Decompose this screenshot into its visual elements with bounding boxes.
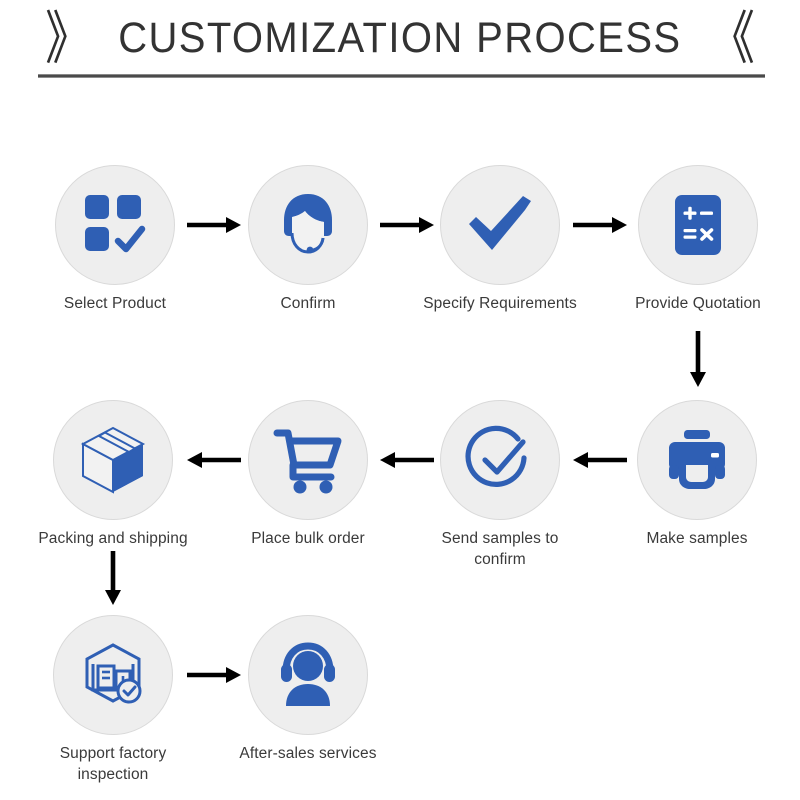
flow-step-icon-circle: [638, 165, 758, 285]
shopping-cart-icon: [273, 425, 343, 495]
arrow-confirm-to-specify-requirements: [379, 212, 435, 238]
flow-step-make-samples[interactable]: Make samples: [615, 400, 779, 550]
headset-person-icon: [273, 640, 343, 710]
grid-check-icon: [82, 192, 148, 258]
flow-step-after-sales-services[interactable]: After-sales services: [226, 615, 390, 765]
flow-step-label: After-sales services: [226, 744, 390, 765]
flow-step-icon-circle: [248, 615, 368, 735]
printer-icon: [664, 427, 730, 493]
flow-step-label: Select Product: [33, 294, 197, 315]
arrow-send-samples-to-place-bulk-order: [379, 447, 435, 473]
flow-step-icon-circle: [440, 400, 560, 520]
checkmark-icon: [465, 190, 535, 260]
flow-step-send-samples-to-confirm[interactable]: Send samples to confirm: [418, 400, 582, 570]
flow-step-icon-circle: [637, 400, 757, 520]
arrow-support-factory-inspection-to-after-sales: [186, 662, 242, 688]
flow-step-icon-circle: [53, 615, 173, 735]
flow-step-label: Make samples: [615, 529, 779, 550]
flow-step-select-product[interactable]: Select Product: [33, 165, 197, 315]
flow-step-icon-circle: [53, 400, 173, 520]
flow-step-label: Specify Requirements: [418, 294, 582, 315]
flow-step-label: Send samples to confirm: [418, 529, 582, 570]
arrow-packing-to-support-factory-inspection: [100, 550, 126, 606]
flow-step-icon-circle: [55, 165, 175, 285]
flow-step-label: Place bulk order: [226, 529, 390, 550]
arrow-make-samples-to-send-samples: [572, 447, 628, 473]
flow-step-support-factory-inspection[interactable]: Support factory inspection: [31, 615, 195, 785]
flow-step-label: Packing and shipping: [31, 529, 195, 550]
flow-step-label: Confirm: [226, 294, 390, 315]
flow-step-label: Provide Quotation: [616, 294, 780, 315]
flow-step-specify-requirements[interactable]: Specify Requirements: [418, 165, 582, 315]
check-circle-icon: [465, 425, 535, 495]
factory-check-icon: [78, 640, 148, 710]
flow-step-confirm[interactable]: Confirm: [226, 165, 390, 315]
flow-step-icon-circle: [248, 400, 368, 520]
process-flow-diagram: Select Product Confirm Specify Requireme…: [0, 0, 800, 800]
flow-step-provide-quotation[interactable]: Provide Quotation: [616, 165, 780, 315]
flow-step-icon-circle: [440, 165, 560, 285]
flow-step-label: Support factory inspection: [31, 744, 195, 785]
arrow-place-bulk-order-to-packing-and-shipping: [186, 447, 242, 473]
flow-step-icon-circle: [248, 165, 368, 285]
flow-step-packing-and-shipping[interactable]: Packing and shipping: [31, 400, 195, 550]
calculator-icon: [666, 193, 730, 257]
flow-step-place-bulk-order[interactable]: Place bulk order: [226, 400, 390, 550]
arrow-specify-requirements-to-provide-quotation: [572, 212, 628, 238]
arrow-provide-quotation-to-make-samples: [685, 330, 711, 388]
package-box-icon: [77, 424, 149, 496]
arrow-select-product-to-confirm: [186, 212, 242, 238]
support-agent-icon: [272, 189, 344, 261]
